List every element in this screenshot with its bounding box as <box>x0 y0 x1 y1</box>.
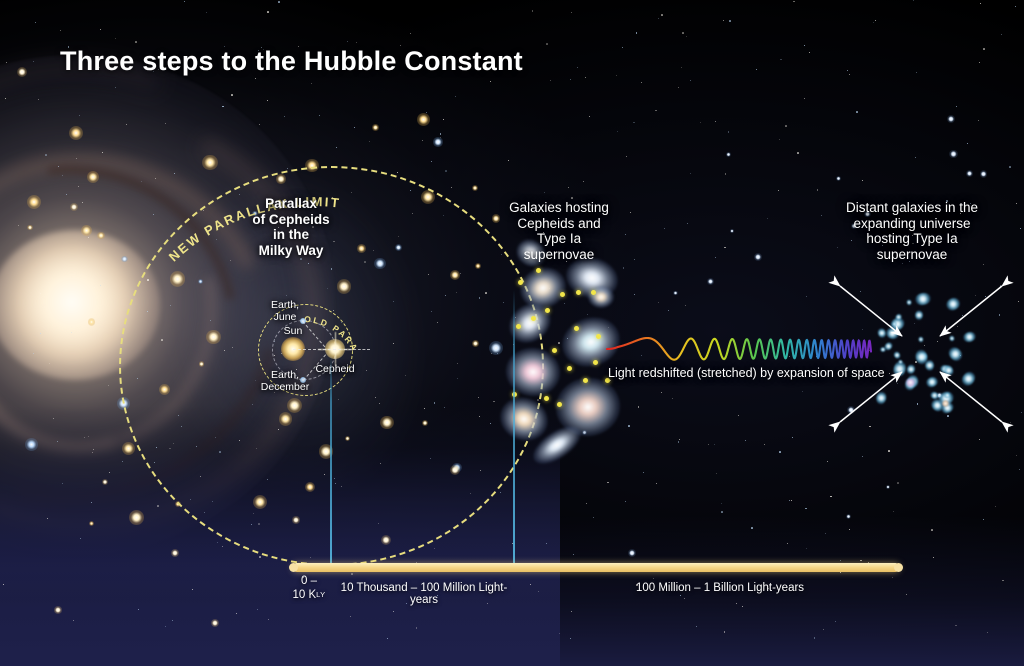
cepheid-marker-dot <box>583 378 588 383</box>
earth-december-line1: Earth, <box>271 369 299 381</box>
scale-label-middle: 10 Thousand – 100 Million Light-years <box>339 582 509 606</box>
earth-december-line2: December <box>261 381 309 393</box>
star <box>814 637 816 639</box>
star <box>336 147 337 148</box>
star <box>607 482 609 484</box>
distance-scale-bar <box>292 563 900 572</box>
scale-right-text: 100 Million – 1 Billion Light-years <box>636 582 804 594</box>
star <box>827 461 828 462</box>
scale-label-left: 0 – 10 KLY <box>286 575 332 602</box>
star <box>917 403 919 405</box>
star <box>661 392 662 393</box>
cepheid-marker-dot <box>567 366 572 371</box>
star <box>793 1 795 3</box>
star <box>873 22 874 23</box>
star <box>571 611 572 612</box>
star <box>530 584 531 585</box>
star <box>628 425 630 427</box>
star <box>792 437 793 438</box>
star <box>38 99 39 100</box>
cepheid-marker-dot <box>518 280 523 285</box>
star <box>643 472 644 473</box>
star <box>1000 285 1002 287</box>
star <box>490 81 491 82</box>
star <box>617 131 618 132</box>
bright-star <box>433 137 443 147</box>
star <box>729 20 731 22</box>
star <box>716 473 717 474</box>
star <box>931 529 933 531</box>
step2-blurb: Galaxies hosting Cepheids and Type Ia su… <box>500 200 618 262</box>
navy-floor-gradient-wide <box>0 516 1024 666</box>
star <box>53 418 54 419</box>
scale-label-right: 100 Million – 1 Billion Light-years <box>610 582 830 594</box>
earth-june-line1: Earth, <box>271 299 299 311</box>
step3-blurb-line4: supernovae <box>877 247 948 262</box>
bright-star <box>847 406 855 414</box>
star <box>1016 455 1017 456</box>
step1-blurb-line3: in the <box>273 227 309 242</box>
star <box>696 626 697 627</box>
scale-middle-text: 10 Thousand – 100 Million Light-years <box>341 582 508 606</box>
bright-star <box>372 124 378 130</box>
star <box>559 633 560 634</box>
star <box>284 116 285 117</box>
step1-blurb: Parallax of Cepheids in the Milky Way <box>232 196 350 258</box>
step1-blurb-line4: Milky Way <box>259 243 324 258</box>
scale-left-unit: LY <box>316 590 325 599</box>
star <box>955 625 957 627</box>
bright-star <box>27 225 33 231</box>
sun-label: Sun <box>268 326 318 338</box>
star <box>745 440 746 441</box>
star <box>259 124 260 125</box>
scale-left-line1: 0 – <box>301 575 317 587</box>
star <box>500 492 501 493</box>
star <box>983 519 984 520</box>
bright-star <box>730 229 734 233</box>
star <box>49 363 50 364</box>
star <box>351 573 353 575</box>
star <box>571 197 573 199</box>
star <box>956 106 957 107</box>
star <box>583 181 584 182</box>
step2-blurb-line1: Galaxies hosting <box>509 200 609 215</box>
bright-star <box>171 549 179 557</box>
star <box>1009 166 1011 168</box>
star <box>888 450 890 452</box>
star <box>445 170 447 172</box>
cepheid-marker-dot <box>516 324 521 329</box>
distant-galaxy <box>915 310 924 320</box>
star <box>975 295 976 296</box>
cepheid-marker-dot <box>593 360 598 365</box>
cepheid-marker-dot <box>536 268 541 273</box>
star <box>82 202 83 203</box>
star <box>682 32 684 34</box>
step2-blurb-line2: Cepheids and <box>517 216 600 231</box>
star <box>570 638 571 639</box>
star <box>577 67 578 68</box>
bright-star <box>81 225 92 236</box>
bright-star <box>886 485 890 489</box>
bright-star <box>947 115 955 123</box>
star <box>33 61 34 62</box>
bright-star <box>707 278 714 285</box>
star <box>979 439 980 440</box>
distant-galaxy <box>905 378 916 387</box>
bright-star <box>70 203 78 211</box>
cepheid-marker-dot <box>544 396 549 401</box>
star <box>141 181 142 182</box>
step2-blurb-line3: Type Ia <box>537 231 581 246</box>
bright-star <box>88 318 95 325</box>
infographic-canvas: NEW PARALLAX LIMIT OLD PARALLAX LIMIT Su… <box>0 0 1024 666</box>
star <box>892 577 893 578</box>
star <box>736 603 737 604</box>
star <box>79 115 80 116</box>
cepheid-marker-dot <box>560 292 565 297</box>
star <box>626 156 627 157</box>
sightline-sun-to-cepheid <box>293 349 341 350</box>
star <box>630 212 631 213</box>
star <box>679 439 680 440</box>
sightline-cepheid-outward <box>344 349 370 350</box>
star <box>1018 301 1019 302</box>
star <box>875 20 876 21</box>
star <box>73 620 74 621</box>
star <box>350 616 351 617</box>
star <box>347 41 348 42</box>
redshift-wave <box>604 332 874 366</box>
redshift-caption: Light redshifted (stretched) by expansio… <box>608 366 885 380</box>
star <box>278 1 280 3</box>
bright-star <box>202 155 217 170</box>
star <box>92 452 93 453</box>
star <box>678 87 679 88</box>
star <box>1015 6 1016 7</box>
star <box>889 373 890 374</box>
star <box>641 82 642 83</box>
cepheid-label: Cepheid <box>304 364 366 376</box>
cepheid-marker-dot <box>574 326 579 331</box>
cepheid-marker-dot <box>552 348 557 353</box>
bright-star <box>836 176 841 181</box>
star <box>664 228 665 229</box>
star <box>860 291 861 292</box>
star <box>267 11 269 13</box>
cepheid-marker-dot <box>545 308 550 313</box>
star <box>633 122 635 124</box>
star <box>5 98 6 99</box>
star <box>721 511 723 513</box>
star <box>725 173 727 175</box>
star <box>93 449 94 450</box>
star <box>906 594 907 595</box>
bright-star <box>673 291 678 296</box>
star <box>78 186 79 187</box>
cepheid-marker-dot <box>596 334 601 339</box>
star <box>172 620 173 621</box>
star <box>980 3 981 4</box>
step1-blurb-line1: Parallax <box>265 196 317 211</box>
star <box>558 342 560 344</box>
star <box>690 173 691 174</box>
star <box>434 548 435 549</box>
star <box>817 189 819 191</box>
star <box>751 527 753 529</box>
guide-line-cepheid <box>330 355 332 570</box>
star <box>440 133 442 135</box>
bright-star <box>54 606 61 613</box>
star <box>869 426 871 428</box>
star <box>259 556 261 558</box>
star <box>714 444 715 445</box>
step3-blurb-line3: hosting Type Ia <box>866 231 957 246</box>
bright-star <box>87 171 99 183</box>
star <box>742 606 743 607</box>
star <box>897 482 899 484</box>
star <box>157 505 159 507</box>
bright-star <box>949 150 957 158</box>
bright-star <box>69 126 83 140</box>
star <box>862 180 863 181</box>
star <box>789 500 790 501</box>
star <box>108 385 109 386</box>
star <box>546 43 548 45</box>
star <box>779 451 781 453</box>
star <box>797 152 799 154</box>
star <box>661 14 663 16</box>
star <box>231 94 233 96</box>
star <box>40 333 41 334</box>
star <box>3 584 4 585</box>
bright-star <box>417 113 430 126</box>
star <box>155 178 156 179</box>
cepheid-marker-dot <box>557 402 562 407</box>
star <box>983 48 985 50</box>
sun-label-text: Sun <box>284 325 303 337</box>
star <box>825 533 826 534</box>
star <box>57 441 58 442</box>
scale-left-line2: 10 K <box>292 589 316 601</box>
star <box>267 100 268 101</box>
star <box>62 175 63 176</box>
star <box>422 140 423 141</box>
star <box>856 111 858 113</box>
star <box>916 72 917 73</box>
star <box>658 18 659 19</box>
star <box>1016 203 1017 204</box>
star <box>1021 412 1022 413</box>
cepheid-marker-dot <box>591 290 596 295</box>
bright-star <box>980 170 987 177</box>
earth-june-line2: June <box>274 311 297 323</box>
star <box>40 293 41 294</box>
step3-blurb-line1: Distant galaxies in the <box>846 200 978 215</box>
bright-star <box>846 514 851 519</box>
star <box>987 632 988 633</box>
star <box>115 87 116 88</box>
page-title: Three steps to the Hubble Constant <box>60 46 523 77</box>
step1-blurb-line2: of Cepheids <box>252 212 329 227</box>
bright-star <box>966 170 973 177</box>
star <box>684 598 685 599</box>
earth-june-label: Earth, June <box>256 300 314 323</box>
star <box>192 589 193 590</box>
bright-star <box>97 232 105 240</box>
star <box>135 41 137 43</box>
step2-blurb-line4: supernovae <box>524 247 595 262</box>
bright-star <box>492 214 500 222</box>
bright-star <box>25 438 38 451</box>
star <box>809 52 810 53</box>
bright-star <box>726 152 731 157</box>
star <box>785 125 787 127</box>
cepheid-marker-dot <box>576 290 581 295</box>
bright-star <box>628 549 636 557</box>
star <box>587 314 588 315</box>
star <box>947 415 949 417</box>
star <box>779 139 780 140</box>
guide-line-galaxies <box>513 290 515 570</box>
cepheid-label-text: Cepheid <box>315 363 354 375</box>
step3-blurb-line2: expanding universe <box>853 216 970 231</box>
step3-blurb: Distant galaxies in the expanding univer… <box>833 200 991 262</box>
cepheid-marker-dot <box>531 316 536 321</box>
